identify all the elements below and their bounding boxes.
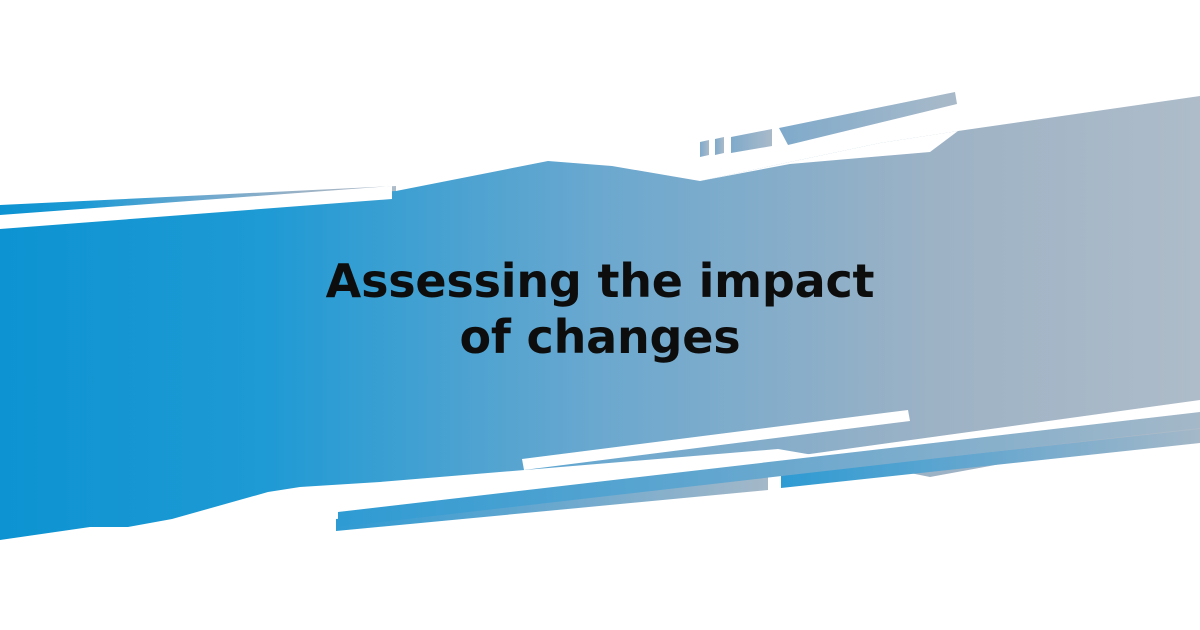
top-dash-small-1 [700,140,709,157]
banner-graphic [0,0,1200,630]
banner-card: Assessing the impact of changes [0,0,1200,630]
top-dash-small-2 [715,137,724,155]
